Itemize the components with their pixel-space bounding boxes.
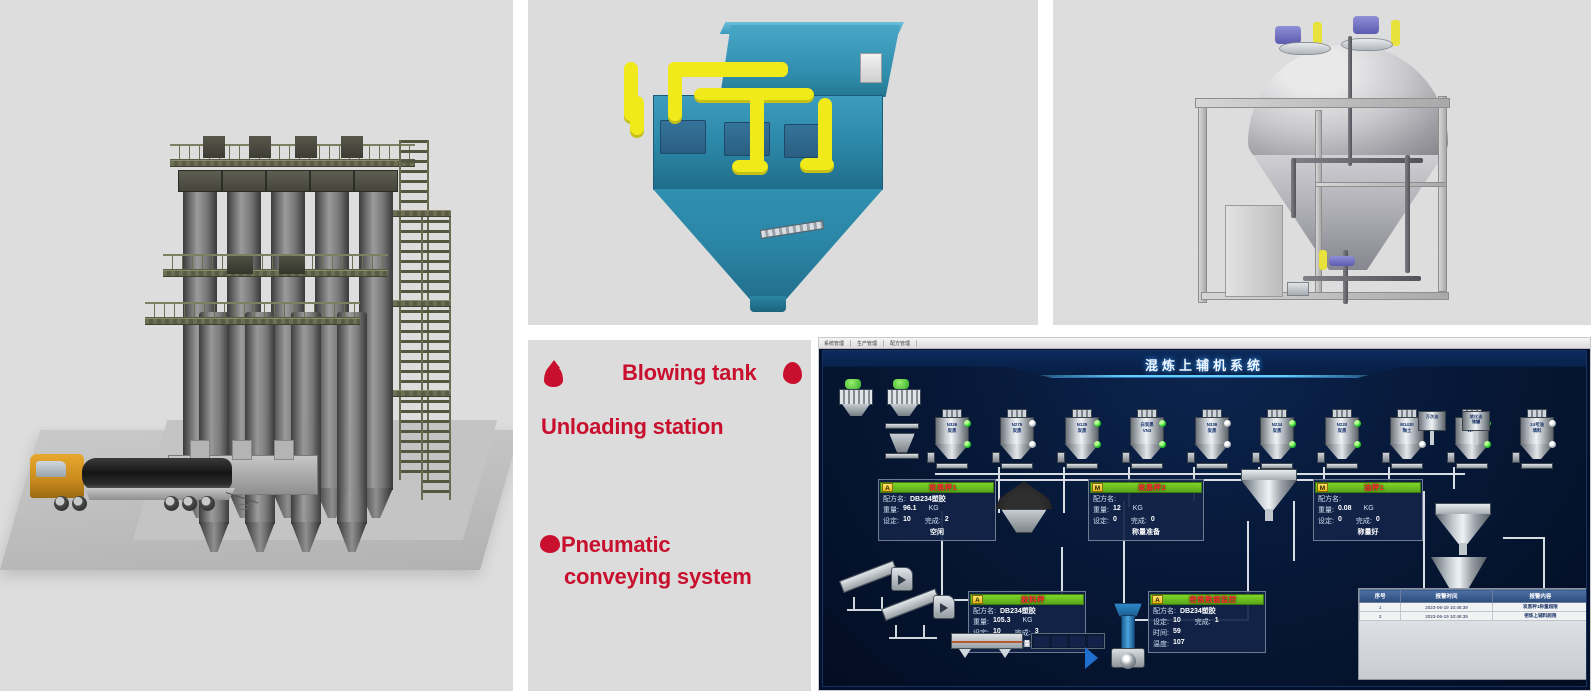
scale-box-3[interactable]: M油秤1配方名:重量:0.08KG设定:0完成:0称量好 — [1313, 479, 1423, 541]
alarm-message: 密炼上辅料超限 — [1492, 612, 1587, 621]
scale-box-1[interactable]: A炭黑秤1配方名:DB234塑胶重量:96.1KG设定:10完成:2空闲 — [878, 479, 996, 541]
silo-N326[interactable]: N326炭黑 — [935, 409, 969, 461]
surge-hopper — [889, 433, 915, 453]
alarm-index: 1 — [1360, 603, 1401, 612]
field-value-2: 0 — [1151, 516, 1155, 526]
flange — [1287, 282, 1309, 296]
scale-mode-badge: M — [1092, 483, 1103, 492]
field-unit: KG — [1364, 505, 1374, 515]
alarm-col-header: 报警时间 — [1401, 590, 1493, 603]
process-pipe — [1293, 158, 1423, 163]
silo-status-indicator — [1094, 420, 1101, 427]
frame-beam — [1195, 98, 1450, 108]
field-label: 设定: — [1093, 516, 1109, 526]
tank-label: 万次油 — [1418, 414, 1446, 419]
electrical-cabinet — [1225, 205, 1283, 297]
silo-status-indicator-2 — [1094, 441, 1101, 448]
collector-cone — [1001, 509, 1047, 533]
alarm-table: 序号报警时间报警内容 12023-06-19 10:48:39炭黑秤1称量超限2… — [1359, 589, 1587, 621]
scale-status: 称量好 — [1314, 526, 1422, 537]
field-value-2: 0 — [1376, 516, 1380, 526]
silo-discharge-valve[interactable] — [1131, 463, 1163, 469]
alarm-table-body: 12023-06-19 10:48:39炭黑秤1称量超限22023-06-19 … — [1360, 603, 1588, 621]
alarm-message: 炭黑秤1称量超限 — [1492, 603, 1587, 612]
field-value: DB234塑胶 — [910, 494, 946, 504]
silo-side-valve — [1512, 452, 1520, 463]
field-label: 配方名: — [1318, 494, 1341, 504]
flow-arrow-icon — [1085, 647, 1098, 669]
silo-N234[interactable]: N234炭黑 — [1260, 409, 1294, 461]
scale-title: 油秤1 — [1328, 482, 1420, 493]
silo-白炭黑[interactable]: 白炭黑VN3 — [1130, 409, 1164, 461]
guard-rail — [668, 62, 682, 124]
alarm-table-header: 序号报警时间报警内容 — [1360, 590, 1588, 603]
scale-status: 称量准备 — [1089, 526, 1203, 537]
silo-status-indicator-2 — [1354, 441, 1361, 448]
scale-box-2[interactable]: M炭黑秤2配方名:重量:12KG设定:0完成:0称量准备 — [1088, 479, 1204, 541]
silo-status-indicator — [1549, 420, 1556, 427]
field-value: 10 — [903, 516, 911, 526]
silo-discharge-valve[interactable] — [1391, 463, 1423, 469]
field-label: 重量: — [1318, 505, 1334, 515]
caption-block: Blowing tank Unloading station Pneumatic… — [528, 340, 811, 691]
bullet-drop-icon — [783, 362, 802, 384]
done-label: 完成: — [1195, 617, 1211, 627]
truck-cab — [30, 454, 84, 498]
silo-discharge-valve[interactable] — [936, 463, 968, 469]
butterfly-valve — [1353, 16, 1379, 34]
alarm-time: 2023-06-19 10:48:39 — [1401, 612, 1493, 621]
rotary-valve[interactable] — [885, 453, 919, 459]
process-pipe — [1405, 155, 1410, 273]
guard-rail — [800, 158, 834, 173]
tank-downpipe — [1474, 431, 1478, 445]
hopper-hatch — [660, 120, 706, 154]
time-label: 时间: — [1153, 628, 1169, 638]
silo-side-valve — [1057, 452, 1065, 463]
alarm-table-panel[interactable]: 序号报警时间报警内容 12023-06-19 10:48:39炭黑秤1称量超限2… — [1358, 588, 1587, 680]
valve-handle — [1319, 250, 1327, 270]
silo-status-indicator-2 — [1289, 441, 1296, 448]
alarm-row[interactable]: 22023-06-19 10:48:39密炼上辅料超限 — [1360, 612, 1588, 621]
silo-status-indicator-2 — [1549, 441, 1556, 448]
silo-N129[interactable]: N129炭黑 — [1065, 409, 1099, 461]
silo-side-valve — [1252, 452, 1260, 463]
guard-rail — [732, 160, 768, 175]
silo-status-indicator-2 — [964, 441, 971, 448]
field-label-2: 完成: — [1131, 516, 1147, 526]
silo-N339[interactable]: N339炭黑 — [1195, 409, 1229, 461]
oil-tank-2[interactable]: 软化油储罐 — [1462, 411, 1490, 435]
process-pipe — [1291, 158, 1296, 218]
mixer-mode-badge: A — [1152, 595, 1163, 604]
photo-weigh-hopper — [528, 0, 1038, 325]
menu-item-recipe[interactable]: 配方管理 — [890, 340, 917, 347]
control-box — [860, 53, 882, 83]
silo-status-indicator-2 — [1159, 441, 1166, 448]
frame-brace — [1315, 182, 1447, 187]
field-value: 0 — [1338, 516, 1342, 526]
field-label-2: 完成: — [1356, 516, 1372, 526]
silo-discharge-valve[interactable] — [1001, 463, 1033, 469]
guard-rail — [750, 92, 764, 170]
alarm-index: 2 — [1360, 612, 1401, 621]
tanker-truck — [30, 452, 260, 512]
scale-mode-badge: A — [972, 595, 983, 604]
frame-leg — [1315, 110, 1322, 300]
photo-silo-farm — [0, 0, 513, 691]
field-value-2: 2 — [945, 516, 949, 526]
field-unit: KG — [929, 505, 939, 515]
field-value: 12 — [1113, 505, 1121, 515]
bullet-drop-icon — [540, 535, 560, 553]
silo-side-valve — [1317, 452, 1325, 463]
time-value: 59 — [1173, 628, 1181, 638]
scale-title: 炭黑秤2 — [1103, 482, 1201, 493]
mixer-monitor-title: 密炼数据监控 — [1163, 594, 1263, 605]
hmi-title: 混炼上辅机系统 — [823, 355, 1586, 374]
field-value: 96.1 — [903, 505, 917, 515]
tank-downpipe — [1430, 431, 1434, 445]
caption-unloading-station: Unloading station — [541, 414, 723, 440]
field-label: 重量: — [1093, 505, 1109, 515]
silo-side-valve — [1122, 452, 1130, 463]
process-pipe — [1303, 276, 1421, 281]
field-label: 配方名: — [883, 494, 906, 504]
alarm-row[interactable]: 12023-06-19 10:48:39炭黑秤1称量超限 — [1360, 603, 1588, 612]
field-unit: KG — [1133, 505, 1143, 515]
oil-tank-1[interactable]: 万次油 — [1418, 411, 1446, 435]
silo-side-valve — [992, 452, 1000, 463]
silo-side-valve — [1382, 452, 1390, 463]
guard-rail — [630, 96, 644, 138]
field-value: DB234塑胶 — [1000, 606, 1036, 616]
scale-title: 胶料秤 — [983, 594, 1083, 605]
tank-label: 软化油储罐 — [1462, 414, 1490, 424]
recipe-value: DB234塑胶 — [1180, 606, 1216, 616]
silo-side-valve — [1447, 452, 1455, 463]
rotary-valve[interactable] — [885, 423, 919, 429]
temp-value: 107 — [1173, 639, 1185, 649]
silo-discharge-valve[interactable] — [1326, 463, 1358, 469]
menu-item-system[interactable]: 系统管理 — [824, 340, 851, 347]
field-value: 0.08 — [1338, 505, 1352, 515]
feed-unit[interactable] — [837, 385, 875, 419]
collage-root: Blowing tank Unloading station Pneumatic… — [0, 0, 1591, 691]
silo-status-indicator — [1029, 420, 1036, 427]
menu-item-production[interactable]: 生产管理 — [857, 340, 884, 347]
alarm-col-header: 序号 — [1360, 590, 1401, 603]
field-label: 重量: — [973, 617, 989, 627]
silo-status-indicator-2 — [1029, 441, 1036, 448]
set-label: 设定: — [1153, 617, 1169, 627]
guard-rail-top-left — [668, 62, 788, 77]
bullet-drop-icon — [544, 365, 563, 387]
weigh-belt[interactable] — [951, 633, 1023, 649]
tank-trailer — [82, 458, 232, 491]
silo-status-indicator — [1354, 420, 1361, 427]
silo-N275[interactable]: N275炭黑 — [1000, 409, 1034, 461]
silo-discharge-valve[interactable] — [1456, 463, 1488, 469]
caption-blowing-tank: Blowing tank — [622, 360, 757, 386]
scale-mode-badge: A — [882, 483, 893, 492]
silo-discharge-valve[interactable] — [1196, 463, 1228, 469]
silo-status-indicator — [1289, 420, 1296, 427]
silo-tower-group — [175, 150, 425, 490]
field-value: 105.3 — [993, 617, 1011, 627]
hmi-menu-bar[interactable]: 系统管理 生产管理 配方管理 — [819, 338, 1590, 349]
material-pile — [995, 481, 1053, 509]
silo-N220[interactable]: N220炭黑 — [1325, 409, 1359, 461]
field-label: 配方名: — [1093, 494, 1116, 504]
photo-blow-tank — [1053, 0, 1591, 325]
scale-title: 炭黑秤1 — [893, 482, 993, 493]
field-unit: KG — [1022, 617, 1032, 627]
truck-window — [36, 461, 66, 477]
silo-side-valve — [1187, 452, 1195, 463]
done-value: 1 — [1215, 617, 1219, 627]
silo-discharge-valve[interactable] — [1521, 463, 1553, 469]
scale-mode-badge: M — [1317, 483, 1328, 492]
silo-status-indicator-2 — [1419, 441, 1426, 448]
frame-leg — [1438, 96, 1447, 292]
silo-status-indicator-2 — [1224, 441, 1231, 448]
silo-status-indicator — [1159, 420, 1166, 427]
alarm-col-header: 报警内容 — [1492, 590, 1587, 603]
hmi-canvas: 混炼上辅机系统 N326炭黑N275炭黑N129炭黑白炭黑VN3N339炭黑N2… — [822, 350, 1587, 687]
field-label-2: 完成: — [925, 516, 941, 526]
caption-pneumatic-line1: Pneumatic — [561, 532, 670, 558]
hmi-scada-screenshot: 系统管理 生产管理 配方管理 混炼上辅机系统 — [818, 337, 1591, 691]
alarm-time: 2023-06-19 10:48:39 — [1401, 603, 1493, 612]
silo-status-indicator — [964, 420, 971, 427]
feed-unit[interactable] — [885, 385, 923, 419]
field-label: 重量: — [883, 505, 899, 515]
scale-status: 空闲 — [879, 526, 995, 537]
caption-pneumatic-line2: conveying system — [564, 564, 752, 590]
silo-status-indicator-2 — [1484, 441, 1491, 448]
recipe-label: 配方名: — [1153, 606, 1176, 616]
hopper-cone — [653, 189, 883, 299]
set-value: 10 — [1173, 617, 1181, 627]
hopper-outlet — [750, 296, 786, 312]
silo-status-indicator — [1224, 420, 1231, 427]
field-label: 设定: — [883, 516, 899, 526]
silo-discharge-valve[interactable] — [1066, 463, 1098, 469]
field-value: 0 — [1113, 516, 1117, 526]
field-label: 设定: — [1318, 516, 1334, 526]
discharge-valve — [1329, 256, 1355, 266]
silo-side-valve — [927, 452, 935, 463]
silo-24号油[interactable]: 24号油填料 — [1520, 409, 1554, 461]
mixer-monitor-box[interactable]: A 密炼数据监控 配方名:DB234塑胶 设定:10完成:1 时间:59 温度:… — [1148, 591, 1266, 653]
temp-label: 温度: — [1153, 639, 1169, 649]
field-label: 配方名: — [973, 606, 996, 616]
frame-leg — [1198, 105, 1207, 303]
internal-mixer[interactable] — [1111, 603, 1145, 673]
